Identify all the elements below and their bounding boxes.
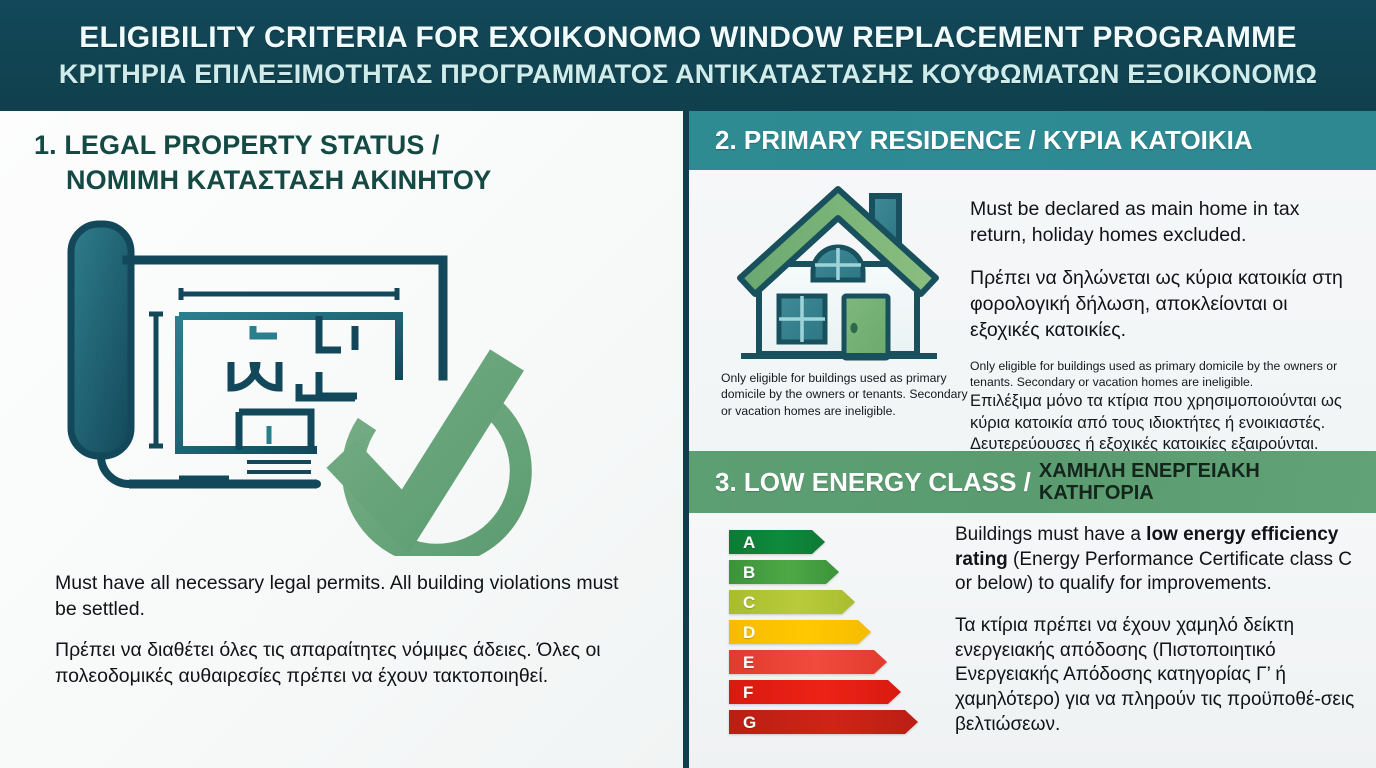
section-2-header-text: 2. PRIMARY RESIDENCE / ΚΥΡΙΑ ΚΑΤΟΙΚΙΑ bbox=[715, 125, 1253, 156]
section-3-text: Buildings must have a low energy efficie… bbox=[955, 523, 1355, 738]
energy-bar-letter: E bbox=[743, 654, 754, 671]
section-3-header: 3. LOW ENERGY CLASS / ΧΑΜΗΛΗ ΕΝΕΡΓΕΙΑΚΗ … bbox=[689, 451, 1376, 513]
section-3-en-post: (Energy Performance Certificate class C … bbox=[955, 549, 1352, 595]
page-title-english: ELIGIBILITY CRITERIA FOR EXOIKONOMO WIND… bbox=[79, 21, 1297, 55]
energy-label-bar-g: G bbox=[729, 710, 939, 734]
energy-label-bar-a: A bbox=[729, 530, 939, 554]
section-1-title-greek: ΝΟΜΙΜΗ ΚΑΤΑΣΤΑΣΗ ΑΚΙΝΗΤΟΥ bbox=[34, 163, 654, 198]
energy-bar-letter: F bbox=[743, 684, 753, 701]
section-3-body: ABCDEFG Buildings must have a low energy… bbox=[689, 513, 1376, 768]
section-1-body: Must have all necessary legal permits. A… bbox=[55, 571, 635, 690]
section-1-title: 1. LEGAL PROPERTY STATUS / ΝΟΜΙΜΗ ΚΑΤΑΣΤ… bbox=[34, 128, 654, 197]
blueprint-checkmark-icon bbox=[55, 216, 575, 556]
house-icon bbox=[731, 176, 961, 361]
section-1-body-english: Must have all necessary legal permits. A… bbox=[55, 571, 635, 622]
energy-label-bar-d: D bbox=[729, 620, 939, 644]
energy-bar-letter: G bbox=[743, 714, 756, 731]
section-1-body-greek: Πρέπει να διαθέτει όλες τις απαραίτητες … bbox=[55, 638, 635, 689]
energy-rating-chart: ABCDEFG bbox=[729, 530, 939, 745]
page-header-band: ELIGIBILITY CRITERIA FOR EXOIKONOMO WIND… bbox=[0, 0, 1376, 111]
energy-bar-letter: A bbox=[743, 534, 755, 551]
energy-label-bar-c: C bbox=[729, 590, 939, 614]
section-3-header-english: 3. LOW ENERGY CLASS / bbox=[715, 467, 1031, 498]
section-2-body: Only eligible for buildings used as prim… bbox=[689, 170, 1376, 451]
right-panel: 2. PRIMARY RESIDENCE / ΚΥΡΙΑ ΚΑΤΟΙΚΙΑ bbox=[689, 111, 1376, 768]
energy-bar-shape bbox=[729, 680, 901, 704]
infographic-page: ELIGIBILITY CRITERIA FOR EXOIKONOMO WIND… bbox=[0, 0, 1376, 768]
section-2-body-greek: Πρέπει να δηλώνεται ως κύρια κατοικία στ… bbox=[970, 266, 1355, 344]
page-title-greek: ΚΡΙΤΗΡΙΑ ΕΠΙΛΕΞΙΜΟΤΗΤΑΣ ΠΡΟΓΡΑΜΜΑΤΟΣ ΑΝΤ… bbox=[59, 58, 1317, 90]
section-1-title-english: 1. LEGAL PROPERTY STATUS / bbox=[34, 130, 440, 160]
energy-bar-letter: C bbox=[743, 594, 755, 611]
section-3-en-pre: Buildings must have a bbox=[955, 524, 1146, 545]
section-2-text: Must be declared as main home in tax ret… bbox=[970, 197, 1355, 344]
section-2-body-english: Must be declared as main home in tax ret… bbox=[970, 197, 1355, 249]
section-3-body-english: Buildings must have a low energy efficie… bbox=[955, 523, 1355, 597]
section-2-note: Only eligible for buildings used as prim… bbox=[970, 358, 1365, 456]
section-2-note-english: Only eligible for buildings used as prim… bbox=[970, 359, 1337, 389]
house-icon-caption: Only eligible for buildings used as prim… bbox=[721, 370, 971, 419]
section-2-note-greek: Επιλέξιμα μόνο τα κτίρια που χρησιμοποιο… bbox=[970, 391, 1365, 455]
energy-label-bar-f: F bbox=[729, 680, 939, 704]
energy-label-bar-e: E bbox=[729, 650, 939, 674]
section-2-header: 2. PRIMARY RESIDENCE / ΚΥΡΙΑ ΚΑΤΟΙΚΙΑ bbox=[689, 111, 1376, 170]
energy-bar-shape bbox=[729, 710, 918, 734]
section-1-panel: 1. LEGAL PROPERTY STATUS / ΝΟΜΙΜΗ ΚΑΤΑΣΤ… bbox=[0, 111, 683, 768]
section-3-header-greek: ΧΑΜΗΛΗ ΕΝΕΡΓΕΙΑΚΗ ΚΑΤΗΓΟΡΙΑ bbox=[1039, 460, 1329, 505]
energy-bar-letter: B bbox=[743, 564, 755, 581]
energy-bar-letter: D bbox=[743, 624, 755, 641]
energy-label-bar-b: B bbox=[729, 560, 939, 584]
section-3-body-greek: Τα κτίρια πρέπει να έχουν χαμηλό δείκτη … bbox=[955, 614, 1355, 737]
